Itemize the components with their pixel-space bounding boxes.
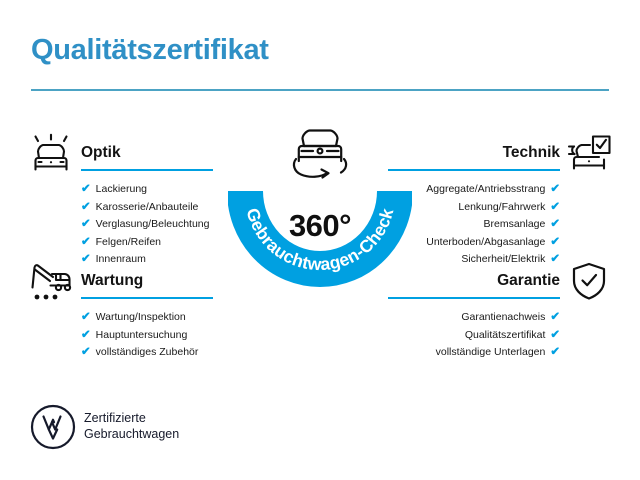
section-garantie: Garantie Garantienachweis✔Qualitätszerti… xyxy=(388,271,560,378)
section-technik-list: Aggregate/Antriebsstrang✔Lenkung/Fahrwer… xyxy=(388,181,560,269)
section-optik: Optik ✔Lackierung✔Karosserie/Anbauteile✔… xyxy=(81,143,211,285)
checklist-item-label: Hauptuntersuchung xyxy=(96,327,188,345)
checklist-item-label: vollständige Unterlagen xyxy=(436,344,546,362)
check-icon: ✔ xyxy=(81,347,91,359)
checklist-item-label: Lenkung/Fahrwerk xyxy=(458,199,545,217)
checklist-item: ✔Wartung/Inspektion xyxy=(81,309,211,327)
certificate-page: Qualitätszertifikat Optik ✔Lackierung✔Ka… xyxy=(0,0,640,480)
checklist-item: vollständige Unterlagen✔ xyxy=(388,344,560,362)
section-optik-list: ✔Lackierung✔Karosserie/Anbauteile✔Vergla… xyxy=(81,181,211,269)
car-front-rotate-icon xyxy=(285,125,355,183)
section-technik: Technik Aggregate/Antriebsstrang✔Lenkung… xyxy=(388,143,560,285)
footer-line-1: Zertifizierte xyxy=(84,410,179,426)
footer-line-2: Gebrauchtwagen xyxy=(84,426,179,442)
checklist-item: ✔Karosserie/Anbauteile xyxy=(81,199,211,217)
checklist-item: ✔Lackierung xyxy=(81,181,211,199)
section-garantie-header: Garantie xyxy=(388,271,560,297)
car-shine-icon xyxy=(28,133,74,175)
volkswagen-logo xyxy=(30,404,76,450)
section-wartung-list: ✔Wartung/Inspektion✔Hauptuntersuchung✔vo… xyxy=(81,309,211,362)
checklist-item-label: Innenraum xyxy=(96,251,146,269)
checklist-item-label: Unterboden/Abgasanlage xyxy=(426,234,545,252)
footer-text: Zertifizierte Gebrauchtwagen xyxy=(84,410,179,442)
checklist-item-label: Aggregate/Antriebsstrang xyxy=(426,181,545,199)
section-technik-title: Technik xyxy=(388,143,560,163)
check-icon: ✔ xyxy=(81,184,91,196)
checklist-item-label: Garantienachweis xyxy=(461,309,545,327)
checklist-item: ✔Hauptuntersuchung xyxy=(81,327,211,345)
checklist-item: ✔vollständiges Zubehör xyxy=(81,344,211,362)
check-icon: ✔ xyxy=(81,202,91,214)
badge-degrees-label: 360° xyxy=(228,208,412,244)
checklist-item-label: Lackierung xyxy=(96,181,147,199)
car-lift-icon xyxy=(28,261,74,303)
check-icon: ✔ xyxy=(81,219,91,231)
car-checkbox-icon xyxy=(566,133,612,175)
check-icon: ✔ xyxy=(81,237,91,249)
checklist-item-label: Verglasung/Beleuchtung xyxy=(96,216,210,234)
title-divider xyxy=(31,89,609,91)
checklist-item-label: Felgen/Reifen xyxy=(96,234,161,252)
section-garantie-divider xyxy=(388,297,560,299)
checklist-item: ✔Innenraum xyxy=(81,251,211,269)
checklist-item-label: Sicherheit/Elektrik xyxy=(461,251,545,269)
checklist-item: Qualitätszertifikat✔ xyxy=(388,327,560,345)
check-icon: ✔ xyxy=(550,237,560,249)
check-icon: ✔ xyxy=(550,219,560,231)
check-icon: ✔ xyxy=(550,312,560,324)
checklist-item-label: vollständiges Zubehör xyxy=(96,344,199,362)
section-wartung-divider xyxy=(81,297,213,299)
checklist-item: ✔Felgen/Reifen xyxy=(81,234,211,252)
checklist-item-label: Karosserie/Anbauteile xyxy=(96,199,199,217)
check-icon: ✔ xyxy=(550,330,560,342)
section-optik-divider xyxy=(81,169,213,171)
section-wartung-title: Wartung xyxy=(81,271,211,291)
checklist-item: Garantienachweis✔ xyxy=(388,309,560,327)
section-wartung: Wartung ✔Wartung/Inspektion✔Hauptuntersu… xyxy=(81,271,211,378)
checklist-item-label: Bremsanlage xyxy=(483,216,545,234)
page-title: Qualitätszertifikat xyxy=(31,34,269,67)
checklist-item-label: Wartung/Inspektion xyxy=(96,309,186,327)
checklist-item: Sicherheit/Elektrik✔ xyxy=(388,251,560,269)
section-optik-title: Optik xyxy=(81,143,211,163)
check-icon: ✔ xyxy=(550,347,560,359)
checklist-item: Bremsanlage✔ xyxy=(388,216,560,234)
check-icon: ✔ xyxy=(81,254,91,266)
section-optik-header: Optik xyxy=(81,143,211,169)
check-icon: ✔ xyxy=(550,184,560,196)
check-icon: ✔ xyxy=(550,254,560,266)
check-icon: ✔ xyxy=(550,202,560,214)
check-icon: ✔ xyxy=(81,330,91,342)
section-technik-header: Technik xyxy=(388,143,560,169)
section-garantie-title: Garantie xyxy=(388,271,560,291)
check-icon: ✔ xyxy=(81,312,91,324)
checklist-item: ✔Verglasung/Beleuchtung xyxy=(81,216,211,234)
shield-check-icon xyxy=(570,261,608,301)
section-garantie-list: Garantienachweis✔Qualitätszertifikat✔vol… xyxy=(388,309,560,362)
checklist-item: Unterboden/Abgasanlage✔ xyxy=(388,234,560,252)
checklist-item-label: Qualitätszertifikat xyxy=(465,327,546,345)
section-technik-divider xyxy=(388,169,560,171)
checklist-item: Lenkung/Fahrwerk✔ xyxy=(388,199,560,217)
section-wartung-header: Wartung xyxy=(81,271,211,297)
checklist-item: Aggregate/Antriebsstrang✔ xyxy=(388,181,560,199)
